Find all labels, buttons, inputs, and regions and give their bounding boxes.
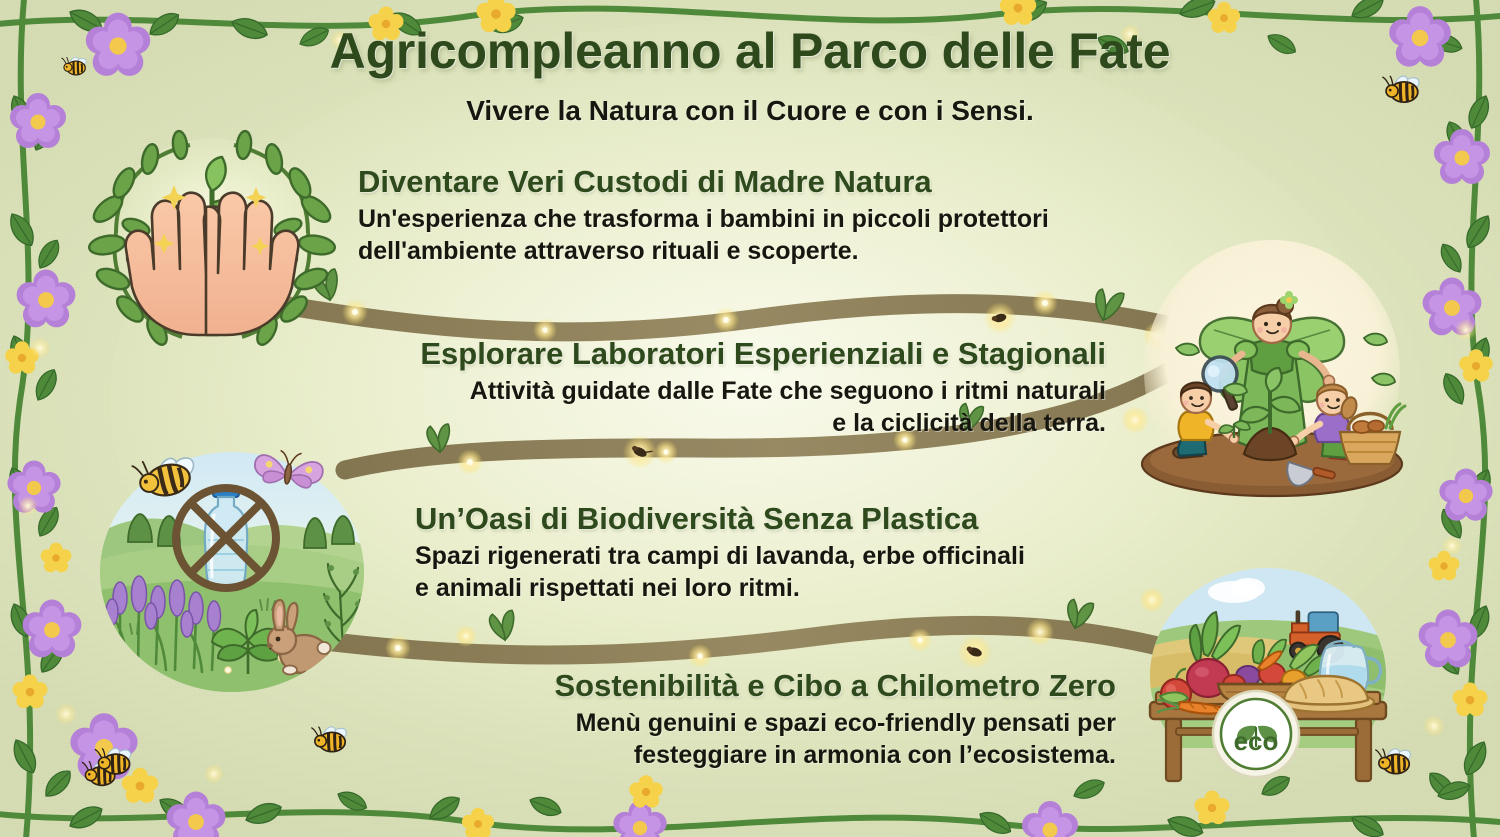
section-heading-laboratori: Esplorare Laboratori Esperienziali e Sta… (196, 336, 1106, 373)
section-heading-custodi: Diventare Veri Custodi di Madre Natura (358, 164, 1188, 201)
page-title: Agricompleanno al Parco delle Fate (0, 22, 1500, 80)
section-body-laboratori-line2: e la ciclicità della terra. (196, 407, 1106, 440)
text-layer: Agricompleanno al Parco delle Fate Viver… (0, 0, 1500, 837)
section-laboratori: Esplorare Laboratori Esperienziali e Sta… (196, 336, 1106, 440)
section-body-custodi-line1: Un'esperienza che trasforma i bambini in… (358, 203, 1188, 236)
section-body-laboratori-line1: Attività guidate dalle Fate che seguono … (196, 375, 1106, 408)
section-custodi: Diventare Veri Custodi di Madre Natura U… (358, 164, 1188, 268)
section-heading-sostenibilita: Sostenibilità e Cibo a Chilometro Zero (356, 668, 1116, 705)
section-biodiversita: Un’Oasi di Biodiversità Senza Plastica S… (415, 501, 1145, 605)
section-heading-biodiversita: Un’Oasi di Biodiversità Senza Plastica (415, 501, 1145, 538)
section-body-biodiversita-line1: Spazi rigenerati tra campi di lavanda, e… (415, 540, 1145, 573)
section-sostenibilita: Sostenibilità e Cibo a Chilometro Zero M… (356, 668, 1116, 772)
page-subtitle: Vivere la Natura con il Cuore e con i Se… (0, 95, 1500, 127)
section-body-biodiversita-line2: e animali rispettati nei loro ritmi. (415, 572, 1145, 605)
infographic-poster: eco (0, 0, 1500, 837)
section-body-sostenibilita-line2: festeggiare in armonia con l’ecosistema. (356, 739, 1116, 772)
section-body-sostenibilita-line1: Menù genuini e spazi eco-friendly pensat… (356, 707, 1116, 740)
section-body-custodi-line2: dell'ambiente attraverso rituali e scope… (358, 235, 1188, 268)
